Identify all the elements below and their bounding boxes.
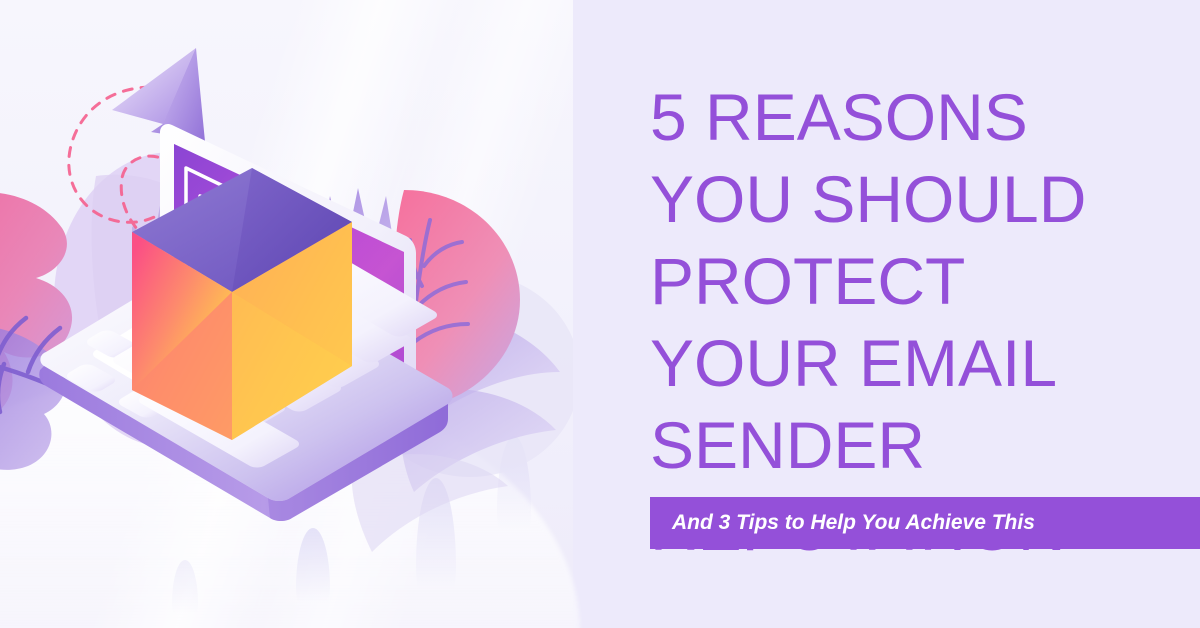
illustration-canvas <box>0 0 573 628</box>
subtitle-banner: And 3 Tips to Help You Achieve This <box>650 497 1200 549</box>
promo-banner: 5 Reasons You Should Protect Your Email … <box>0 0 1200 628</box>
subtitle-text: And 3 Tips to Help You Achieve This <box>650 511 1035 535</box>
hero-illustration <box>0 0 573 628</box>
page-title: 5 Reasons You Should Protect Your Email … <box>650 76 1170 568</box>
